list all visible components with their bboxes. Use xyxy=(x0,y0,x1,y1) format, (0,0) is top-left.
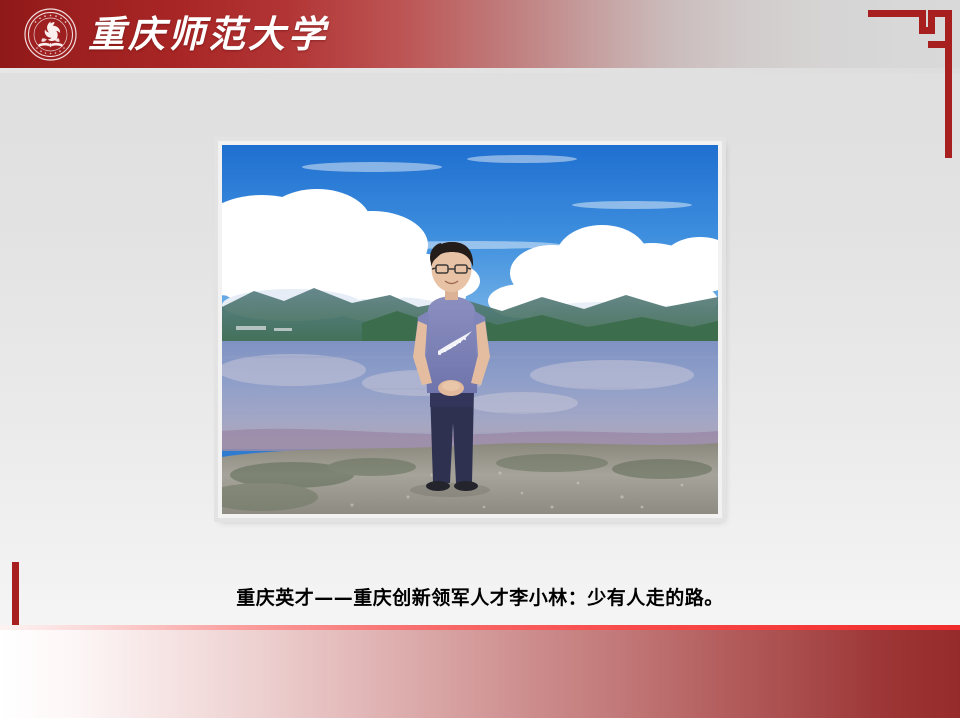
photograph-portrait-lakeshore xyxy=(222,145,718,514)
slide-caption: 重庆英才——重庆创新领军人才李小林：少有人走的路。 xyxy=(0,583,960,610)
photo-frame xyxy=(218,141,722,518)
university-seal-icon xyxy=(24,8,77,61)
header-band-underline xyxy=(0,68,960,73)
page-title: 重庆师范大学 xyxy=(88,9,328,61)
chinese-meander-corner-icon-top-right xyxy=(868,10,952,158)
presentation-slide: 重庆师范大学 xyxy=(0,0,960,720)
footer-band xyxy=(0,630,960,718)
